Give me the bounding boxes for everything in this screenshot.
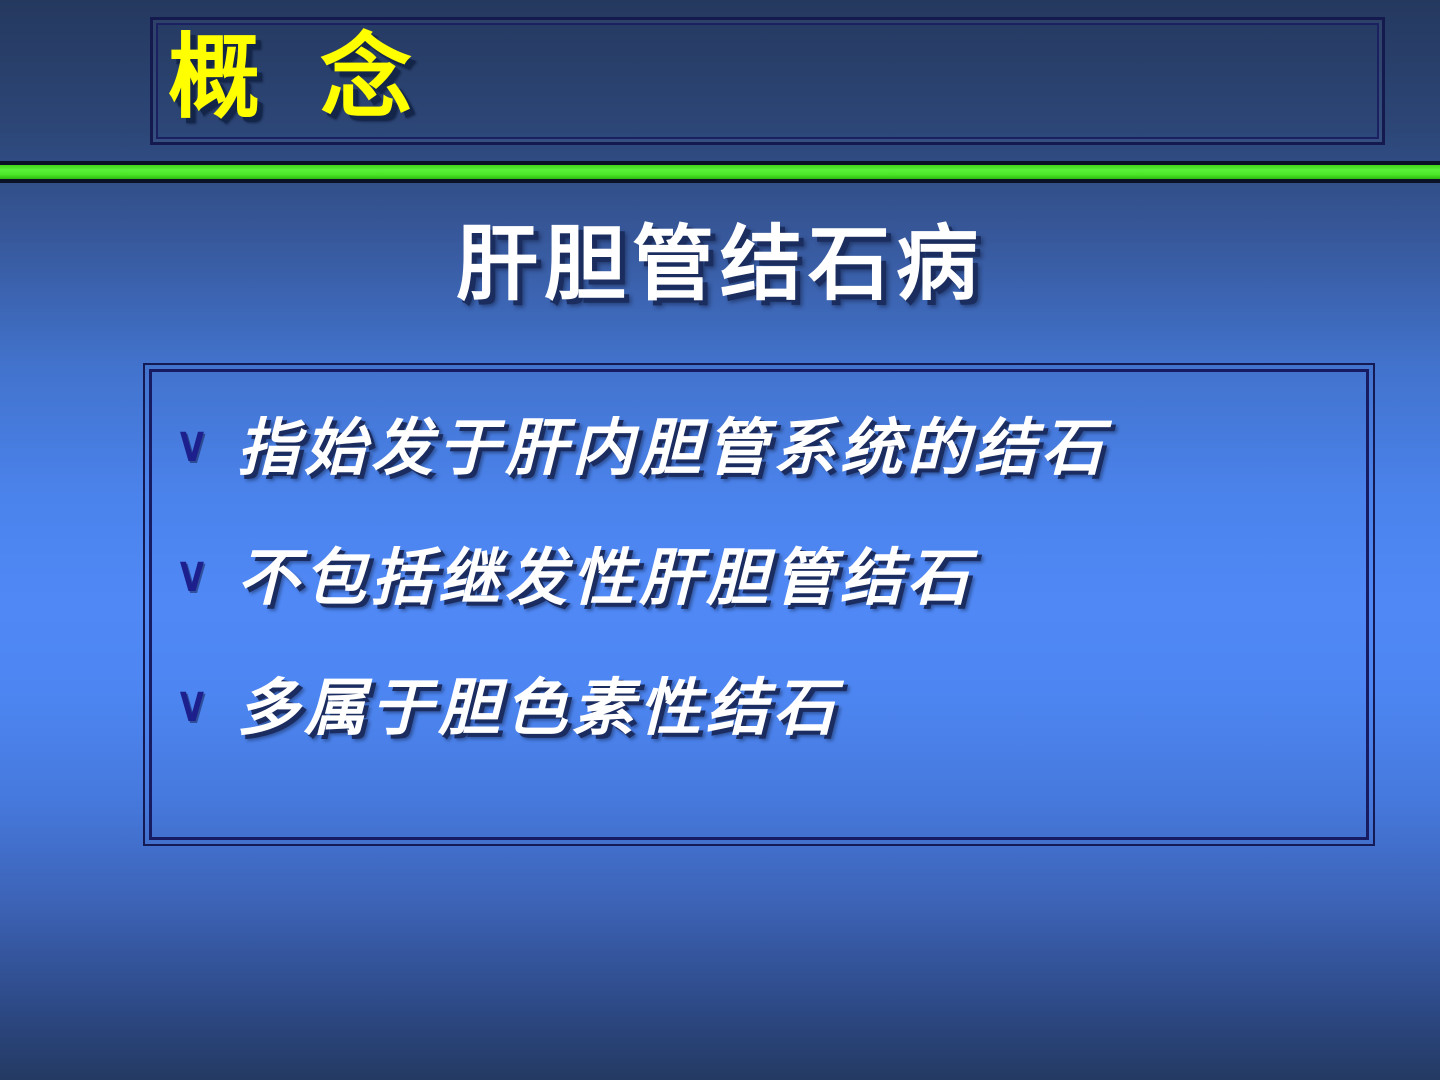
- list-item: V 不包括继发性肝胆管结石: [145, 535, 1373, 621]
- slide-title: 概 念: [168, 22, 426, 132]
- main-heading: 肝胆管结石病: [0, 214, 1440, 314]
- chevron-bullet-icon: V: [171, 558, 213, 598]
- accent-divider-rule: [0, 161, 1440, 183]
- chevron-bullet-icon: V: [171, 428, 213, 468]
- list-item: V 指始发于肝内胆管系统的结石: [145, 405, 1373, 491]
- slide-canvas: 概 念 肝胆管结石病 V 指始发于肝内胆管系统的结石 V 不包括继发性肝胆管结石…: [0, 0, 1440, 1080]
- list-item: V 多属于胆色素性结石: [145, 665, 1373, 751]
- list-item-label: 指始发于肝内胆管系统的结石: [237, 405, 1108, 491]
- divider-bottom-edge: [0, 179, 1440, 183]
- bullet-list: V 指始发于肝内胆管系统的结石 V 不包括继发性肝胆管结石 V 多属于胆色素性结…: [145, 405, 1373, 795]
- chevron-bullet-icon: V: [171, 688, 213, 728]
- divider-green-bar: [0, 165, 1440, 179]
- list-item-label: 多属于胆色素性结石: [237, 665, 840, 751]
- list-item-label: 不包括继发性肝胆管结石: [237, 535, 974, 621]
- content-frame: V 指始发于肝内胆管系统的结石 V 不包括继发性肝胆管结石 V 多属于胆色素性结…: [143, 363, 1375, 846]
